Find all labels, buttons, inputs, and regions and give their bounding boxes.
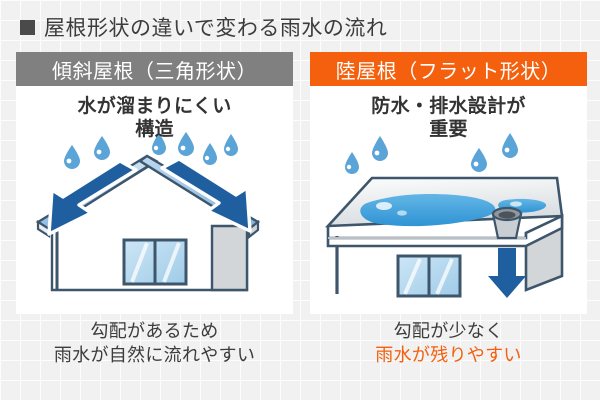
panel-body-sloped-roof: 水が溜まりにくい 構造: [16, 86, 293, 314]
illustration-flat-roof-house: [310, 130, 587, 314]
caption-sloped-roof: 勾配があるため 雨水が自然に流れやすい: [16, 320, 293, 368]
square-bullet-icon: [20, 20, 35, 35]
page-title-text: 屋根形状の違いで変わる雨水の流れ: [44, 12, 387, 42]
caption-flat-roof: 勾配が少なく 雨水が残りやすい: [310, 320, 587, 368]
caption-line: 勾配があるため: [16, 320, 293, 344]
roof-drain-icon: [493, 208, 521, 238]
panel-sloped-roof: 傾斜屋根（三角形状） 水が溜まりにくい 構造: [16, 52, 293, 314]
infographic-page: 屋根形状の違いで変わる雨水の流れ 傾斜屋根（三角形状） 水が溜まりにくい 構造: [0, 0, 600, 400]
panel-header-sloped-roof: 傾斜屋根（三角形状）: [16, 52, 293, 86]
page-title: 屋根形状の違いで変わる雨水の流れ: [20, 12, 387, 42]
panel-subtitle-flat-roof: 防水・排水設計が 重要: [310, 95, 587, 141]
panel-body-flat-roof: 防水・排水設計が 重要: [310, 86, 587, 314]
panel-header-flat-roof: 陸屋根（フラット形状）: [310, 52, 587, 86]
caption-line-accent: 雨水が残りやすい: [310, 344, 587, 368]
drain-flow-arrow: [488, 248, 526, 298]
illustration-gabled-house: [16, 130, 293, 314]
caption-line: 雨水が自然に流れやすい: [16, 344, 293, 368]
panel-subtitle-sloped-roof: 水が溜まりにくい 構造: [16, 95, 293, 141]
panel-flat-roof: 陸屋根（フラット形状） 防水・排水設計が 重要: [310, 52, 587, 314]
caption-line: 勾配が少なく: [310, 320, 587, 344]
